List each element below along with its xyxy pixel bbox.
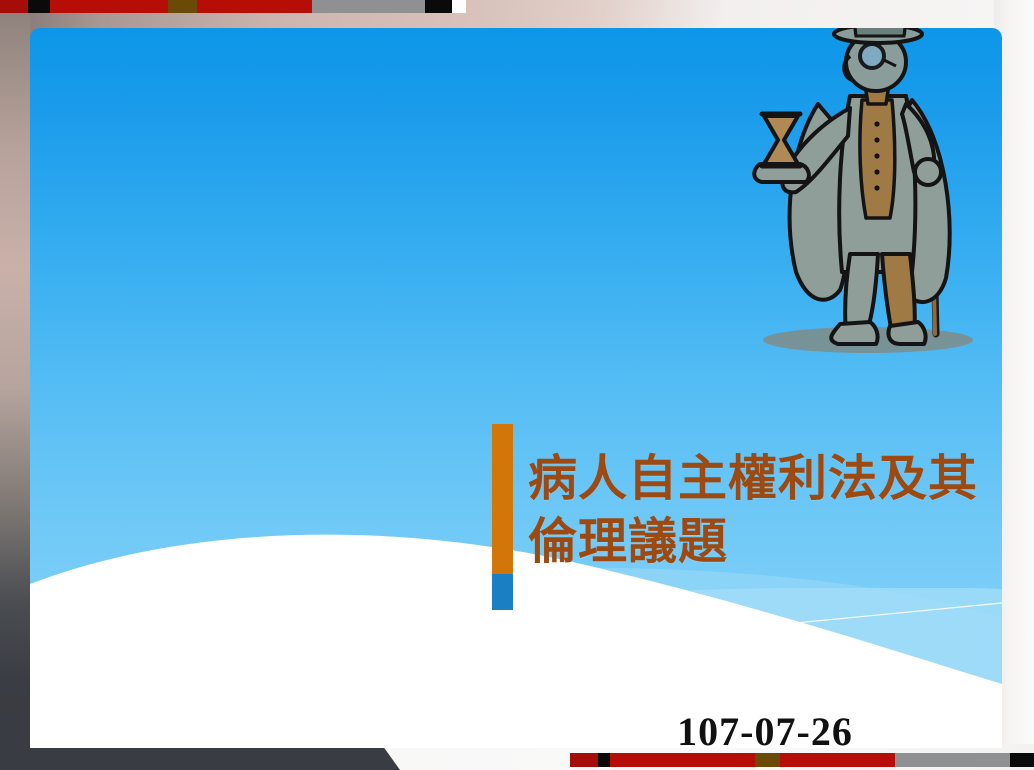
frame-left-edge — [0, 8, 30, 770]
slide-title-line-2: 倫理議題 — [528, 511, 998, 574]
slide-canvas: 病人自主權利法及其 倫理議題 許文章 107-07-26 — [30, 28, 1002, 748]
color-block-red-block-3 — [197, 0, 312, 13]
color-block-gray-block — [312, 0, 425, 13]
color-block-black-block-2 — [425, 0, 452, 13]
color-block-black-block-1 — [598, 753, 610, 767]
presentation-slide-view: 病人自主權利法及其 倫理議題 許文章 107-07-26 — [0, 0, 1034, 770]
color-block-red-block-3 — [780, 753, 895, 767]
color-block-brown-block — [168, 0, 197, 13]
color-block-red-block-1 — [570, 753, 598, 767]
accent-bar-orange-segment — [492, 424, 513, 574]
title-accent-bar — [492, 424, 513, 610]
slide-title: 病人自主權利法及其 倫理議題 — [528, 448, 998, 573]
gentleman-illustration — [700, 28, 1002, 364]
color-block-brown-block — [755, 753, 780, 767]
color-block-red-block-1 — [0, 0, 28, 13]
color-block-gray-block — [895, 753, 1010, 767]
slide-title-line-1: 病人自主權利法及其 — [528, 448, 998, 511]
color-block-red-block-2 — [610, 753, 755, 767]
presentation-date: 107-07-26 — [560, 708, 970, 748]
color-block-white-block — [452, 0, 466, 13]
color-block-black-block-1 — [28, 0, 50, 13]
color-block-red-block-2 — [50, 0, 168, 13]
accent-bar-blue-segment — [492, 574, 513, 610]
color-block-black-block-2 — [1010, 753, 1034, 767]
presenter-name: 許文章 — [560, 661, 970, 709]
